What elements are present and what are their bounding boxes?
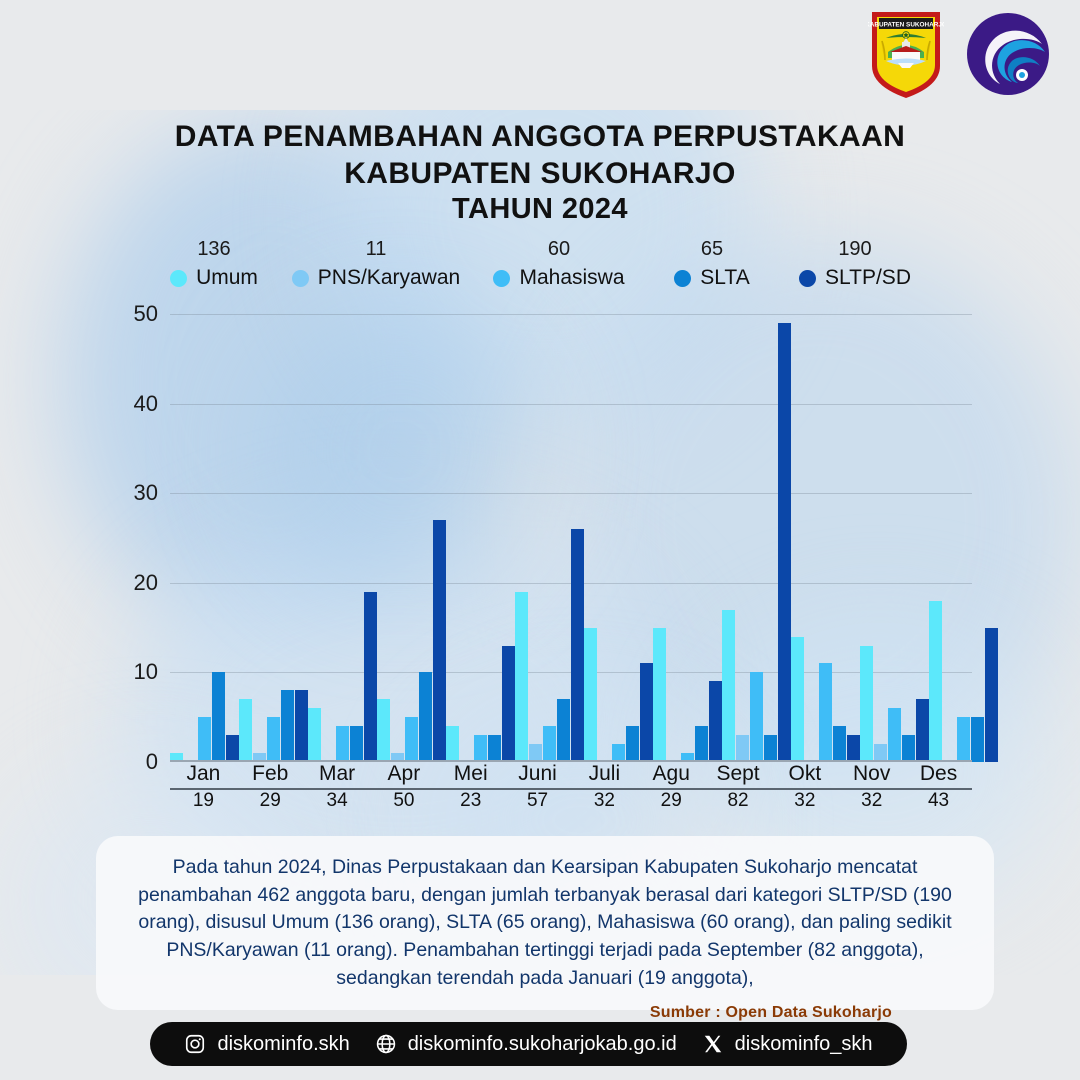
month-total: 32 [571, 790, 638, 812]
legend-items-row: Umum PNS/Karyawan Mahasiswa SLTA SLTP/SD [0, 266, 1080, 290]
bar-group [170, 314, 239, 762]
legend-item-mahasiswa[interactable]: Mahasiswa [493, 266, 624, 290]
bar[interactable] [722, 610, 735, 762]
bar[interactable] [557, 699, 570, 762]
month-total: 57 [504, 790, 571, 812]
bar[interactable] [985, 628, 998, 762]
month-total: 23 [437, 790, 504, 812]
month-label: Des [905, 762, 972, 786]
summary-caption: Pada tahun 2024, Dinas Perpustakaan dan … [96, 836, 994, 1010]
month-label: Juli [571, 762, 638, 786]
bar[interactable] [281, 690, 294, 762]
infographic-page: KABUPATEN SUKOHARJO [0, 0, 1080, 1080]
bar-group [860, 314, 929, 762]
kabupaten-sukoharjo-seal-icon: KABUPATEN SUKOHARJO [868, 8, 944, 100]
bar[interactable] [778, 323, 791, 762]
month-label: Juni [504, 762, 571, 786]
monthly-totals-row: 192934502357322982323243 [170, 790, 972, 812]
legend-item-slta[interactable]: SLTA [674, 266, 749, 290]
bar[interactable] [764, 735, 777, 762]
bar[interactable] [543, 726, 556, 762]
month-label: Jan [170, 762, 237, 786]
bar[interactable] [433, 520, 446, 762]
bar[interactable] [888, 708, 901, 762]
title-line-2: KABUPATEN SUKOHARJO [0, 155, 1080, 192]
kominfo-logo-icon [966, 12, 1050, 96]
chart-plot-area: 01020304050 [170, 314, 972, 762]
x-twitter-icon [702, 1033, 724, 1055]
x-axis-labels: JanFebMarAprMeiJuniJuliAguSeptOktNovDes [170, 762, 972, 786]
svg-text:KABUPATEN SUKOHARJO: KABUPATEN SUKOHARJO [868, 22, 944, 29]
month-label: Apr [370, 762, 437, 786]
legend-dot-icon [170, 270, 187, 287]
y-axis-tick: 10 [134, 659, 158, 685]
y-axis-tick: 40 [134, 391, 158, 417]
legend-total-sltpsd: 190 [775, 238, 935, 261]
bar[interactable] [847, 735, 860, 762]
bar[interactable] [377, 699, 390, 762]
legend-label: SLTP/SD [825, 266, 911, 290]
bar-group [377, 314, 446, 762]
y-axis-tick: 0 [146, 749, 158, 775]
footer-bar: diskominfo.skh diskominfo.sukoharjokab.g… [150, 1022, 907, 1066]
month-label: Agu [638, 762, 705, 786]
legend-total-pns: 11 [283, 238, 469, 261]
legend-item-sltpsd[interactable]: SLTP/SD [799, 266, 911, 290]
bar[interactable] [929, 601, 942, 762]
footer-x[interactable]: diskominfo_skh [702, 1033, 873, 1056]
footer-instagram[interactable]: diskominfo.skh [184, 1033, 349, 1056]
bar[interactable] [267, 717, 280, 762]
month-total: 50 [370, 790, 437, 812]
bar[interactable] [502, 646, 515, 762]
legend-label: PNS/Karyawan [318, 266, 460, 290]
bar[interactable] [239, 699, 252, 762]
bar[interactable] [515, 592, 528, 762]
bar[interactable] [833, 726, 846, 762]
globe-icon [375, 1033, 397, 1055]
bar[interactable] [446, 726, 459, 762]
bar[interactable] [488, 735, 501, 762]
month-total: 34 [304, 790, 371, 812]
source-label: Sumber : Open Data Sukoharjo [650, 1004, 892, 1022]
legend-label: Mahasiswa [519, 266, 624, 290]
logo-group: KABUPATEN SUKOHARJO [868, 8, 1050, 100]
bar[interactable] [860, 646, 873, 762]
bar-group [446, 314, 515, 762]
bar-group [308, 314, 377, 762]
bar[interactable] [902, 735, 915, 762]
bar[interactable] [750, 672, 763, 762]
legend-total-slta: 65 [649, 238, 775, 261]
bar[interactable] [571, 529, 584, 762]
bar[interactable] [405, 717, 418, 762]
bar-group [722, 314, 791, 762]
month-total: 29 [638, 790, 705, 812]
month-total: 43 [905, 790, 972, 812]
month-total: 32 [838, 790, 905, 812]
month-label: Nov [838, 762, 905, 786]
legend-label: SLTA [700, 266, 749, 290]
bar[interactable] [364, 592, 377, 762]
legend-total-umum: 136 [145, 238, 283, 261]
legend-dot-icon [799, 270, 816, 287]
legend-totals-row: 136 11 60 65 190 [0, 238, 1080, 261]
bar[interactable] [916, 699, 929, 762]
bar[interactable] [419, 672, 432, 762]
legend-total-mahasiswa: 60 [469, 238, 649, 261]
bar[interactable] [640, 663, 653, 762]
bar-group [239, 314, 308, 762]
month-total: 32 [771, 790, 838, 812]
legend-label: Umum [196, 266, 258, 290]
month-label: Feb [237, 762, 304, 786]
title-line-1: DATA PENAMBAHAN ANGGOTA PERPUSTAKAAN [0, 118, 1080, 155]
y-axis-tick: 30 [134, 480, 158, 506]
bar[interactable] [736, 735, 749, 762]
month-total: 29 [237, 790, 304, 812]
bar[interactable] [626, 726, 639, 762]
chart-legend: 136 11 60 65 190 Umum PNS/Karyawan Mahas… [0, 238, 1080, 290]
bar[interactable] [212, 672, 225, 762]
bar-group [791, 314, 860, 762]
footer-website[interactable]: diskominfo.sukoharjokab.go.id [375, 1033, 677, 1056]
legend-dot-icon [674, 270, 691, 287]
bar-groups [170, 314, 972, 762]
bar[interactable] [350, 726, 363, 762]
footer-label: diskominfo.skh [217, 1033, 349, 1056]
bar[interactable] [695, 726, 708, 762]
bar[interactable] [584, 628, 597, 762]
legend-item-umum[interactable]: Umum [170, 266, 258, 290]
month-total: 19 [170, 790, 237, 812]
month-label: Okt [771, 762, 838, 786]
title-line-3: TAHUN 2024 [0, 192, 1080, 228]
bar-group [653, 314, 722, 762]
instagram-icon [184, 1033, 206, 1055]
bar[interactable] [474, 735, 487, 762]
bar[interactable] [791, 637, 804, 762]
y-axis-tick: 20 [134, 570, 158, 596]
bar[interactable] [308, 708, 321, 762]
bar[interactable] [295, 690, 308, 762]
bar-group [929, 314, 998, 762]
bar[interactable] [971, 717, 984, 762]
legend-dot-icon [292, 270, 309, 287]
bar[interactable] [226, 735, 239, 762]
legend-dot-icon [493, 270, 510, 287]
bar-chart: 01020304050 [118, 300, 972, 762]
bar[interactable] [709, 681, 722, 762]
bar[interactable] [957, 717, 970, 762]
page-title: DATA PENAMBAHAN ANGGOTA PERPUSTAKAAN KAB… [0, 118, 1080, 228]
bar[interactable] [819, 663, 832, 762]
bar[interactable] [336, 726, 349, 762]
legend-item-pns[interactable]: PNS/Karyawan [292, 266, 460, 290]
month-label: Mei [437, 762, 504, 786]
footer-label: diskominfo.sukoharjokab.go.id [408, 1033, 677, 1056]
bar[interactable] [198, 717, 211, 762]
month-label: Sept [705, 762, 772, 786]
bar[interactable] [653, 628, 666, 762]
bar-group [584, 314, 653, 762]
month-total: 82 [705, 790, 772, 812]
y-axis-tick: 50 [134, 301, 158, 327]
bar-group [515, 314, 584, 762]
footer-label: diskominfo_skh [735, 1033, 873, 1056]
month-label: Mar [304, 762, 371, 786]
